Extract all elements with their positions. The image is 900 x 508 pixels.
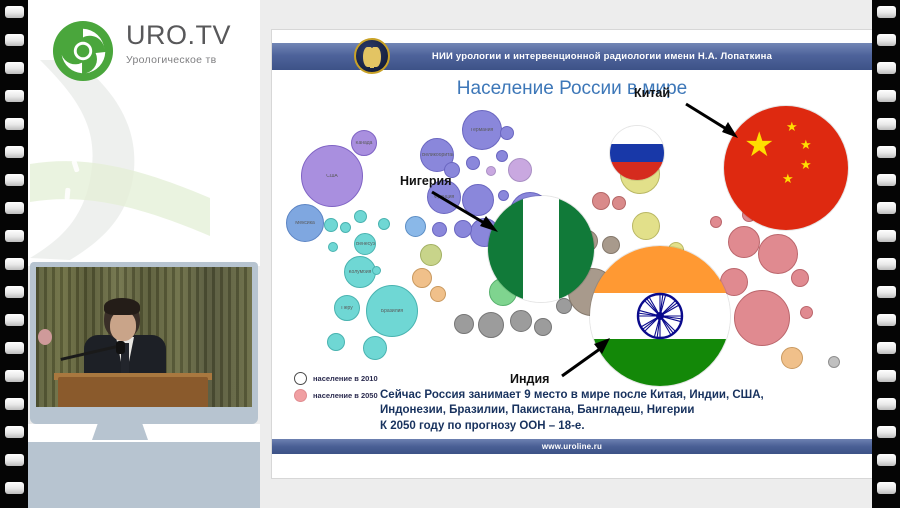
legend-item-2010: население в 2010	[294, 372, 378, 385]
legend-swatch-filled-circle-icon	[294, 389, 307, 402]
bubble-peru: Перу	[334, 295, 360, 321]
film-sprocket-hole	[5, 454, 24, 466]
bubble-philippines	[758, 234, 798, 274]
bubble-af-small-5	[510, 310, 532, 332]
bubble-af-small-2	[412, 268, 432, 288]
callout-china-arrow-icon	[684, 100, 740, 140]
callout-india-arrow-icon	[558, 336, 612, 380]
film-sprocket-hole	[877, 286, 896, 298]
brand-logo[interactable]: URO.TV Урологическое тв	[52, 18, 252, 88]
presenter-video[interactable]	[36, 267, 252, 407]
film-sprocket-hole	[5, 426, 24, 438]
bubble-sa-small-4	[354, 210, 367, 223]
film-sprocket-hole	[877, 482, 896, 494]
monitor-stand	[92, 424, 148, 440]
callout-china-label: Китай	[634, 86, 670, 100]
film-sprocket-hole	[5, 34, 24, 46]
film-sprocket-hole	[5, 202, 24, 214]
slide-caption: Сейчас Россия занимает 9 место в мире по…	[380, 388, 850, 434]
film-sprocket-hole	[877, 258, 896, 270]
bubble-usa: США	[301, 145, 363, 207]
film-strip-right	[872, 0, 900, 508]
bubble-eu-small-8	[486, 166, 496, 176]
bubble-sa-small-3	[328, 242, 338, 252]
film-sprocket-hole	[877, 342, 896, 354]
film-sprocket-hole	[877, 426, 896, 438]
film-sprocket-hole	[5, 230, 24, 242]
bubble-colombia: Колумбия	[344, 256, 376, 288]
callout-nigeria-label: Нигерия	[400, 174, 451, 188]
podium	[58, 377, 208, 407]
legend-swatch-outline-circle-icon	[294, 372, 307, 385]
bubble-sa-small-6	[372, 266, 381, 275]
uro-tv-swirl-logo-icon	[52, 20, 114, 82]
bubble-argentina	[363, 336, 387, 360]
flag-nigeria-icon	[488, 196, 594, 302]
video-presenter-hair	[104, 298, 140, 315]
legend-item-2050: население в 2050	[294, 389, 378, 402]
film-sprocket-hole	[5, 258, 24, 270]
film-sprocket-hole	[5, 146, 24, 158]
chart-legend: население в 2010 население в 2050	[294, 372, 378, 406]
bubble-newzealand	[828, 356, 840, 368]
bubble-ea-small-1	[592, 192, 610, 210]
bubble-ea-small-2	[612, 196, 626, 210]
bubble-af-small-1	[420, 244, 442, 266]
film-sprocket-hole	[877, 230, 896, 242]
video-presenter-face	[110, 311, 136, 341]
bubble-oc-small-2	[710, 216, 722, 228]
film-sprocket-hole	[5, 174, 24, 186]
legend-label-2010: население в 2010	[313, 374, 378, 383]
bubble-af-small-4	[478, 312, 504, 338]
film-sprocket-hole	[877, 62, 896, 74]
video-monitor[interactable]	[30, 262, 258, 424]
bubble-eu-small-2	[466, 156, 480, 170]
film-sprocket-hole	[5, 6, 24, 18]
bubble-brazil: Бразилия	[366, 285, 418, 337]
brand-subtitle: Урологическое тв	[126, 54, 231, 66]
film-sprocket-hole	[877, 174, 896, 186]
film-sprocket-hole	[877, 34, 896, 46]
film-sprocket-hole	[877, 398, 896, 410]
film-strip-left	[0, 0, 28, 508]
video-flower	[38, 329, 52, 345]
film-sprocket-hole	[877, 90, 896, 102]
bubble-australia	[781, 347, 803, 369]
film-sprocket-hole	[5, 342, 24, 354]
film-sprocket-hole	[5, 314, 24, 326]
bubble-thailand	[728, 226, 760, 258]
film-ribbon-decoration	[30, 60, 210, 260]
bubble-mexico: Мексика	[286, 204, 324, 242]
film-sprocket-hole	[877, 118, 896, 130]
film-sprocket-hole	[877, 370, 896, 382]
bubble-indonesia	[734, 290, 790, 346]
bubble-germany: Германия	[462, 110, 502, 150]
film-sprocket-hole	[877, 314, 896, 326]
brand-text: URO.TV Урологическое тв	[126, 22, 231, 66]
film-sprocket-hole	[5, 398, 24, 410]
film-sprocket-hole	[5, 62, 24, 74]
monitor-base-area	[28, 442, 260, 508]
flag-china-icon: ★ ★ ★ ★ ★	[724, 106, 848, 230]
slide-footer-url: www.uroline.ru	[542, 442, 602, 451]
bubble-canada: Канада	[351, 130, 377, 156]
bubble-sa-small-2	[340, 222, 351, 233]
ashoka-chakra-icon	[635, 291, 685, 341]
caption-line-2: Индонезии, Бразилии, Пакистана, Бангладе…	[380, 403, 850, 418]
bubble-nepal	[791, 269, 809, 287]
institute-name: НИИ урологии и интервенционной радиологи…	[372, 51, 772, 62]
slide-footer-bar: www.uroline.ru	[272, 439, 872, 454]
legend-label-2050: население в 2050	[313, 391, 378, 400]
film-sprocket-hole	[5, 286, 24, 298]
brand-title: URO.TV	[126, 22, 231, 49]
film-sprocket-hole	[877, 146, 896, 158]
bubble-poland	[405, 216, 426, 237]
film-sprocket-hole	[877, 202, 896, 214]
bubble-af-small-3	[430, 286, 446, 302]
urology-institute-emblem-icon	[354, 38, 390, 74]
bubble-ukraine	[508, 158, 532, 182]
film-sprocket-hole	[5, 90, 24, 102]
caption-line-1: Сейчас Россия занимает 9 место в мире по…	[380, 388, 850, 403]
bubble-chile	[327, 333, 345, 351]
bubble-skorea	[632, 212, 660, 240]
bubble-af-small-7	[454, 314, 474, 334]
flag-russia-icon	[610, 126, 664, 180]
bubble-af-small-6	[534, 318, 552, 336]
caption-line-3: К 2050 году по прогнозу ООН – 18-е.	[380, 419, 850, 434]
bubble-venezuela: Венесуэла	[354, 233, 376, 255]
film-sprocket-hole	[5, 118, 24, 130]
callout-india-label: Индия	[510, 372, 549, 386]
presentation-slide: НИИ урологии и интервенционной радиологи…	[272, 30, 872, 478]
bubble-sa-small-5	[378, 218, 390, 230]
film-sprocket-hole	[877, 6, 896, 18]
bubble-oc-small-3	[800, 306, 813, 319]
screenshot-root: URO.TV Урологическое тв НИИ урологии и и…	[0, 0, 900, 508]
film-sprocket-hole	[877, 454, 896, 466]
film-sprocket-hole	[5, 482, 24, 494]
film-sprocket-hole	[5, 370, 24, 382]
bubble-sa-small-1	[324, 218, 338, 232]
bubble-eu-small-3	[500, 126, 514, 140]
microphone-head-icon	[116, 341, 125, 354]
callout-nigeria-arrow-icon	[430, 188, 500, 236]
bubble-eu-small-4	[496, 150, 508, 162]
